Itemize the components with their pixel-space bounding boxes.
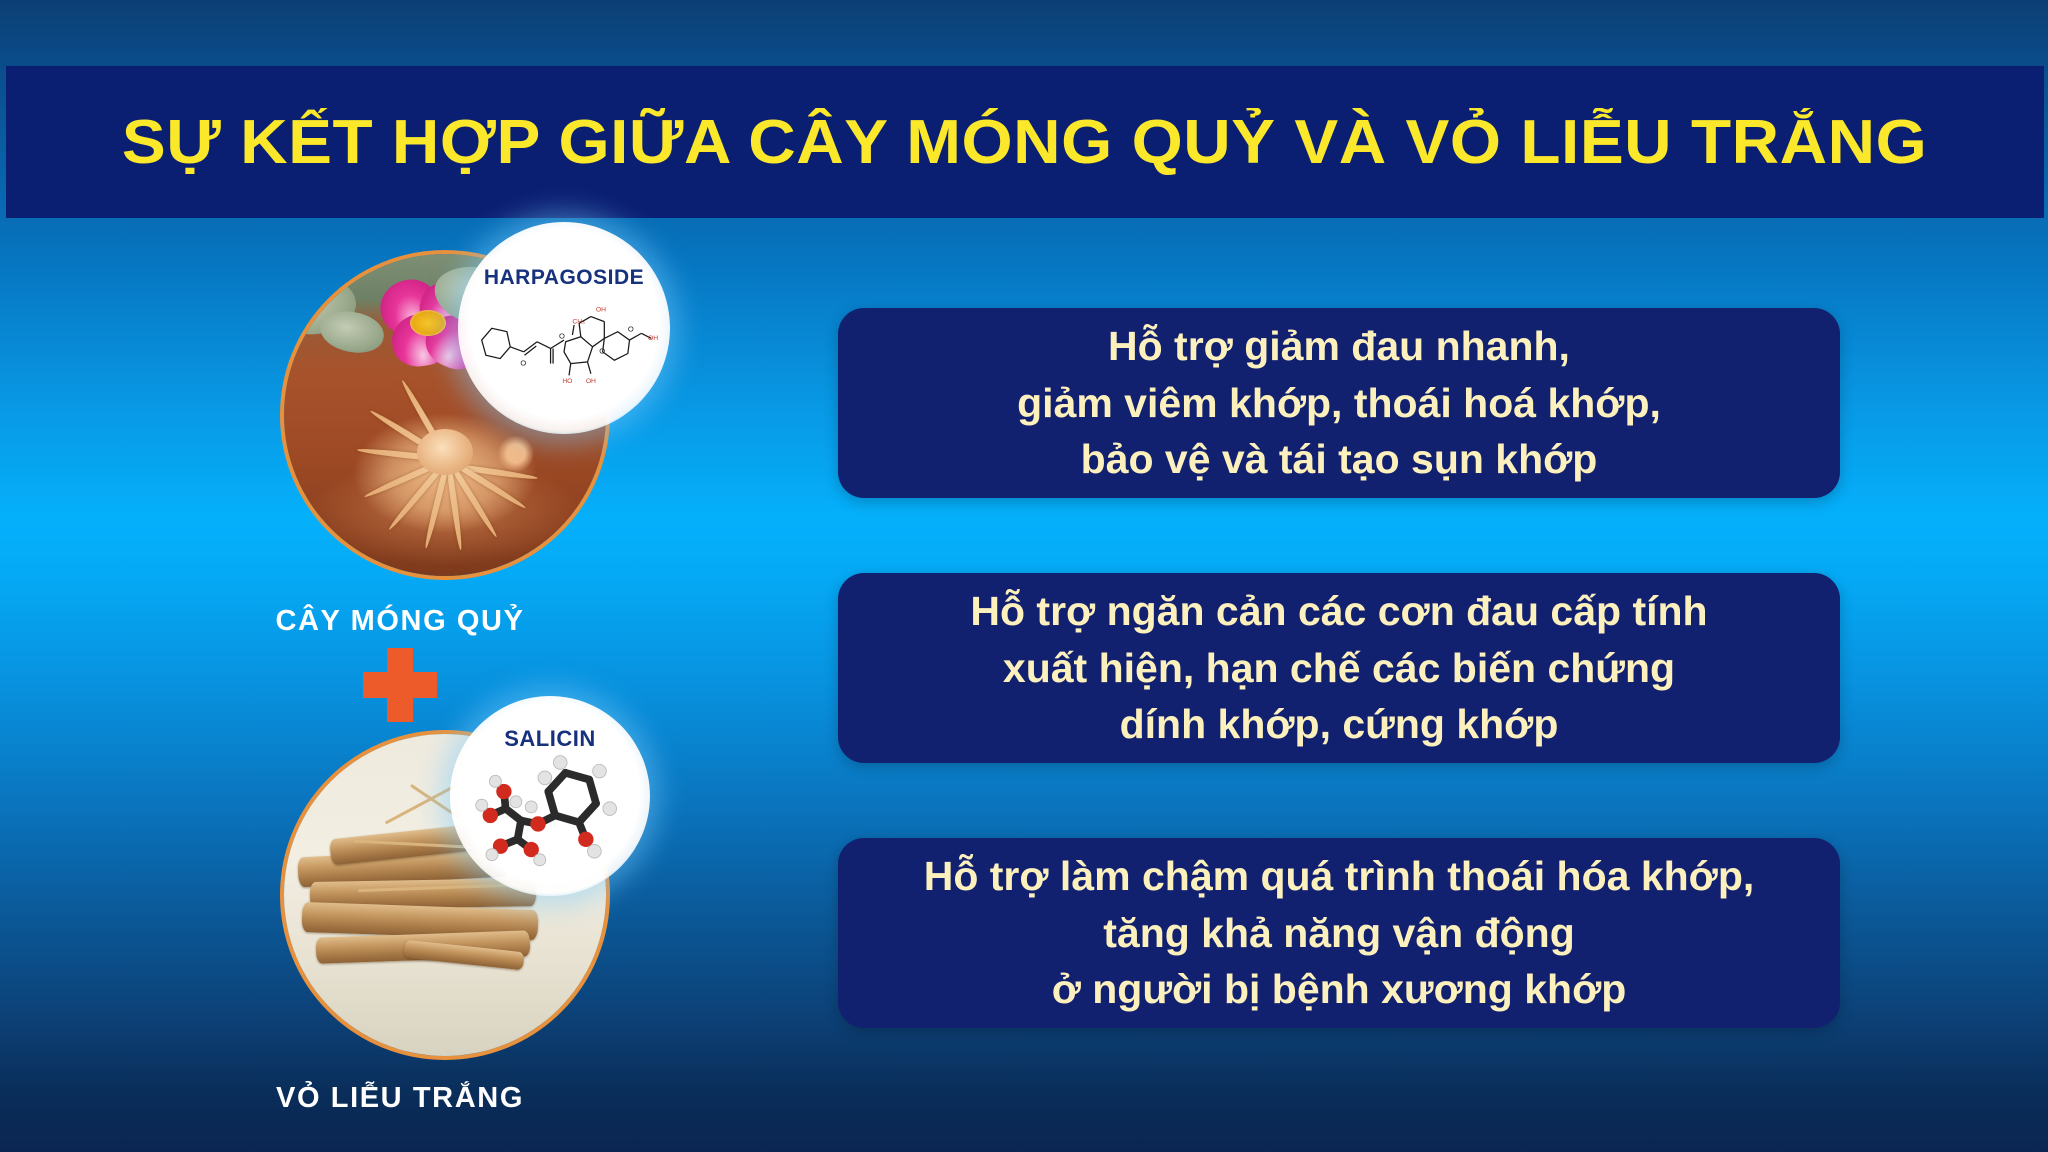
- benefit-line: tăng khả năng vận động: [924, 905, 1755, 962]
- benefit-line: Hỗ trợ giảm đau nhanh,: [1017, 318, 1661, 375]
- svg-text:HO: HO: [562, 378, 572, 385]
- ingredient-label-devils-claw: CÂY MÓNG QUỶ: [0, 605, 800, 638]
- root-hub: [417, 429, 473, 475]
- ingredient-block-devils-claw: HARPAGOSIDE: [0, 250, 800, 580]
- svg-text:OH: OH: [648, 335, 658, 342]
- svg-text:OH: OH: [586, 378, 596, 385]
- benefit-line: Hỗ trợ làm chậm quá trình thoái hóa khớp…: [924, 848, 1755, 905]
- svg-text:CH₃: CH₃: [572, 318, 585, 325]
- svg-text:O: O: [520, 358, 526, 367]
- salicin-label: SALICIN: [450, 726, 650, 752]
- svg-text:O: O: [628, 325, 634, 334]
- benefit-line: ở người bị bệnh xương khớp: [924, 961, 1755, 1018]
- willow-bark-circle-wrap: SALICIN: [280, 730, 610, 1060]
- benefit-line: bảo vệ và tái tạo sụn khớp: [1017, 431, 1661, 488]
- svg-text:O: O: [599, 347, 605, 356]
- svg-text:O: O: [559, 331, 565, 340]
- benefit-box-1: Hỗ trợ giảm đau nhanh, giảm viêm khớp, t…: [838, 308, 1840, 498]
- ingredient-label-willow-bark: VỎ LIỄU TRẮNG: [0, 1082, 800, 1115]
- benefit-line: Hỗ trợ ngăn cản các cơn đau cấp tính: [970, 583, 1707, 640]
- benefit-line: giảm viêm khớp, thoái hoá khớp,: [1017, 375, 1661, 432]
- benefit-box-2: Hỗ trợ ngăn cản các cơn đau cấp tính xuấ…: [838, 573, 1840, 763]
- benefit-line: xuất hiện, hạn chế các biến chứng: [970, 640, 1707, 697]
- benefit-text-2: Hỗ trợ ngăn cản các cơn đau cấp tính xuấ…: [946, 583, 1731, 753]
- benefit-line: dính khớp, cứng khớp: [970, 696, 1707, 753]
- page-title: SỰ KẾT HỢP GIỮA CÂY MÓNG QUỶ VÀ VỎ LIỄU …: [122, 107, 1927, 178]
- harpagoside-structure-icon: O O O O HO OH CH₃ OH OH: [466, 288, 662, 414]
- benefit-text-3: Hỗ trợ làm chậm quá trình thoái hóa khớp…: [900, 848, 1779, 1018]
- salicin-molecule-bubble: SALICIN: [450, 696, 650, 896]
- svg-text:OH: OH: [596, 307, 606, 314]
- infographic-root: SỰ KẾT HỢP GIỮA CÂY MÓNG QUỶ VÀ VỎ LIỄU …: [0, 0, 2048, 1152]
- salicin-structure-icon: [460, 754, 640, 882]
- title-banner: SỰ KẾT HỢP GIỮA CÂY MÓNG QUỶ VÀ VỎ LIỄU …: [6, 66, 2044, 218]
- devils-claw-circle-wrap: HARPAGOSIDE: [280, 250, 610, 580]
- benefit-text-1: Hỗ trợ giảm đau nhanh, giảm viêm khớp, t…: [993, 318, 1685, 488]
- benefit-box-3: Hỗ trợ làm chậm quá trình thoái hóa khớp…: [838, 838, 1840, 1028]
- plus-icon: [363, 648, 437, 722]
- ingredient-block-willow-bark: SALICIN: [0, 730, 800, 1060]
- harpagoside-molecule-bubble: HARPAGOSIDE: [458, 222, 670, 434]
- harpagoside-label: HARPAGOSIDE: [458, 266, 670, 290]
